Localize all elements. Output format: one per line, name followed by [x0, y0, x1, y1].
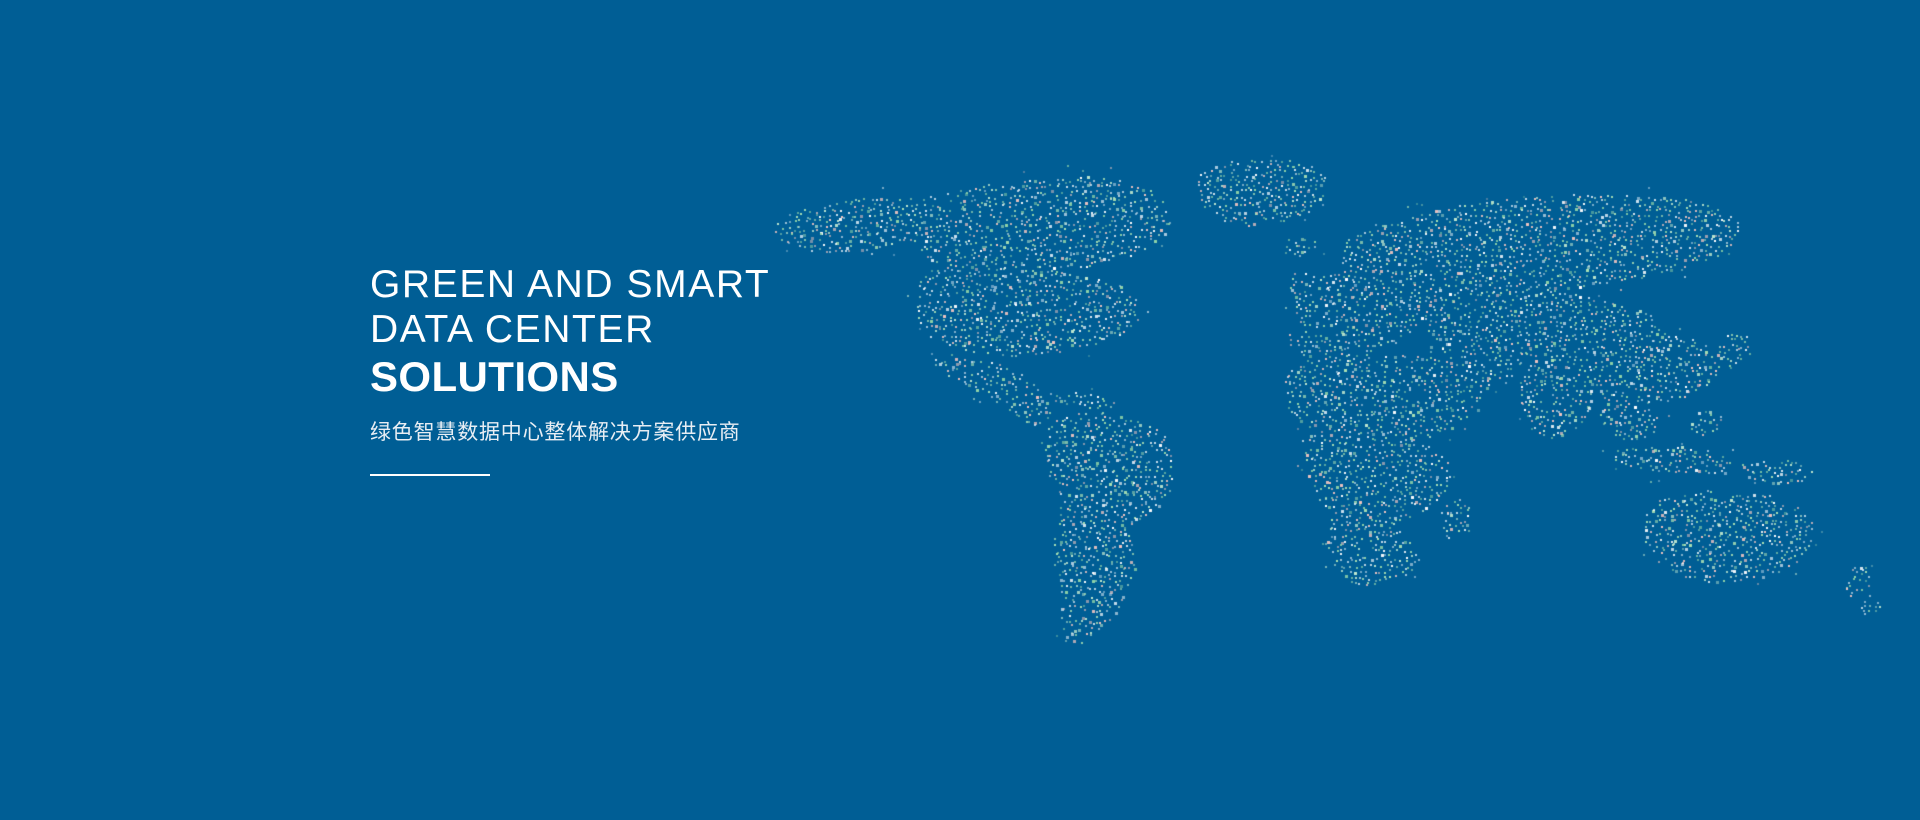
headline-line-1: GREEN AND SMART [370, 262, 1130, 307]
headline-line-3: SOLUTIONS [370, 352, 1130, 402]
hero-divider-rule [370, 474, 490, 476]
hero-subtitle: 绿色智慧数据中心整体解决方案供应商 [370, 418, 1130, 448]
headline-line-2: DATA CENTER [370, 307, 1130, 352]
hero-banner: GREEN AND SMART DATA CENTER SOLUTIONS 绿色… [0, 0, 1920, 820]
hero-text-block: GREEN AND SMART DATA CENTER SOLUTIONS 绿色… [370, 262, 1130, 476]
